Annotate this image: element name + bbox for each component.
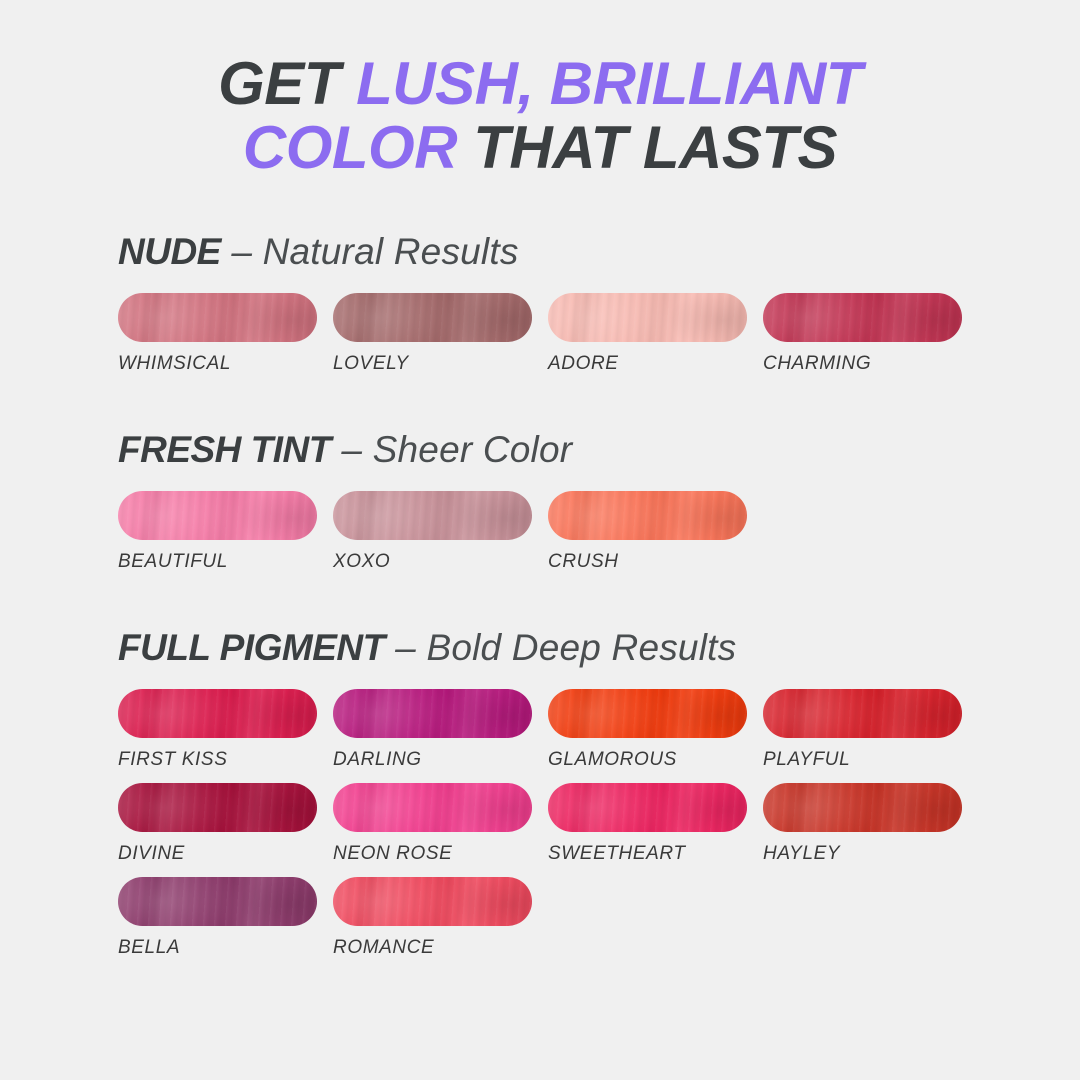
swatch-label: GLAMOROUS [548, 749, 763, 771]
swatch-color-chip[interactable] [548, 491, 747, 540]
swatch-item[interactable]: XOXO [333, 491, 548, 573]
swatch-color-chip[interactable] [118, 293, 317, 342]
shade-section-full-pigment: FULL PIGMENT – Bold Deep ResultsFIRST KI… [118, 627, 1020, 971]
section-heading: FRESH TINT – Sheer Color [118, 429, 1020, 471]
section-separator: – [221, 231, 263, 272]
swatch-label: BEAUTIFUL [118, 551, 333, 573]
headline-line-2: COLOR THAT LASTS [0, 116, 1080, 180]
headline-text-color: COLOR [243, 114, 457, 181]
swatch-color-chip[interactable] [118, 877, 317, 926]
section-name: FRESH TINT [118, 429, 331, 470]
page-headline: GET LUSH, BRILLIANT COLOR THAT LASTS [0, 0, 1080, 179]
swatch-item[interactable]: LOVELY [333, 293, 548, 375]
shade-section-fresh-tint: FRESH TINT – Sheer ColorBEAUTIFULXOXOCRU… [118, 429, 1020, 585]
swatch-label: NEON ROSE [333, 843, 548, 865]
shade-section-nude: NUDE – Natural ResultsWHIMSICALLOVELYADO… [118, 231, 1020, 387]
swatch-item[interactable]: ADORE [548, 293, 763, 375]
swatch-label: DARLING [333, 749, 548, 771]
swatch-label: LOVELY [333, 353, 548, 375]
section-heading: FULL PIGMENT – Bold Deep Results [118, 627, 1020, 669]
swatch-color-chip[interactable] [118, 689, 317, 738]
section-description: Natural Results [263, 231, 519, 272]
swatch-label: CRUSH [548, 551, 763, 573]
swatch-item[interactable]: CHARMING [763, 293, 978, 375]
swatch-item[interactable]: ROMANCE [333, 877, 548, 959]
swatch-item[interactable]: FIRST KISS [118, 689, 333, 771]
shade-sections: NUDE – Natural ResultsWHIMSICALLOVELYADO… [0, 231, 1080, 971]
section-name: NUDE [118, 231, 221, 272]
section-name: FULL PIGMENT [118, 627, 385, 668]
swatch-label: CHARMING [763, 353, 978, 375]
swatch-label: WHIMSICAL [118, 353, 333, 375]
section-description: Sheer Color [373, 429, 573, 470]
swatch-label: ROMANCE [333, 937, 548, 959]
swatch-color-chip[interactable] [548, 689, 747, 738]
swatch-color-chip[interactable] [333, 491, 532, 540]
swatch-color-chip[interactable] [548, 293, 747, 342]
swatch-item[interactable]: DARLING [333, 689, 548, 771]
swatch-item[interactable]: BELLA [118, 877, 333, 959]
swatch-item[interactable]: SWEETHEART [548, 783, 763, 865]
swatch-item[interactable]: WHIMSICAL [118, 293, 333, 375]
headline-text-get: GET [218, 50, 356, 117]
swatch-item[interactable]: HAYLEY [763, 783, 978, 865]
swatch-label: SWEETHEART [548, 843, 763, 865]
swatch-label: BELLA [118, 937, 333, 959]
swatch-label: XOXO [333, 551, 548, 573]
section-heading: NUDE – Natural Results [118, 231, 1020, 273]
headline-text-that-lasts: THAT LASTS [457, 114, 837, 181]
swatch-item[interactable]: DIVINE [118, 783, 333, 865]
swatch-item[interactable]: BEAUTIFUL [118, 491, 333, 573]
swatch-color-chip[interactable] [118, 491, 317, 540]
section-separator: – [331, 429, 373, 470]
headline-text-lush-brilliant: LUSH, BRILLIANT [356, 50, 862, 117]
swatch-label: DIVINE [118, 843, 333, 865]
swatch-grid: BEAUTIFULXOXOCRUSH [118, 491, 1020, 585]
swatch-label: ADORE [548, 353, 763, 375]
headline-line-1: GET LUSH, BRILLIANT [0, 52, 1080, 116]
swatch-color-chip[interactable] [333, 877, 532, 926]
swatch-label: HAYLEY [763, 843, 978, 865]
swatch-item[interactable]: CRUSH [548, 491, 763, 573]
swatch-item[interactable]: PLAYFUL [763, 689, 978, 771]
section-description: Bold Deep Results [426, 627, 736, 668]
swatch-color-chip[interactable] [333, 783, 532, 832]
swatch-color-chip[interactable] [333, 293, 532, 342]
swatch-item[interactable]: NEON ROSE [333, 783, 548, 865]
swatch-label: FIRST KISS [118, 749, 333, 771]
swatch-grid: FIRST KISSDARLINGGLAMOROUSPLAYFULDIVINEN… [118, 689, 1020, 971]
swatch-color-chip[interactable] [118, 783, 317, 832]
swatch-item[interactable]: GLAMOROUS [548, 689, 763, 771]
swatch-grid: WHIMSICALLOVELYADORECHARMING [118, 293, 1020, 387]
swatch-color-chip[interactable] [763, 783, 962, 832]
swatch-label: PLAYFUL [763, 749, 978, 771]
swatch-color-chip[interactable] [333, 689, 532, 738]
swatch-color-chip[interactable] [763, 689, 962, 738]
swatch-color-chip[interactable] [548, 783, 747, 832]
swatch-color-chip[interactable] [763, 293, 962, 342]
section-separator: – [385, 627, 427, 668]
